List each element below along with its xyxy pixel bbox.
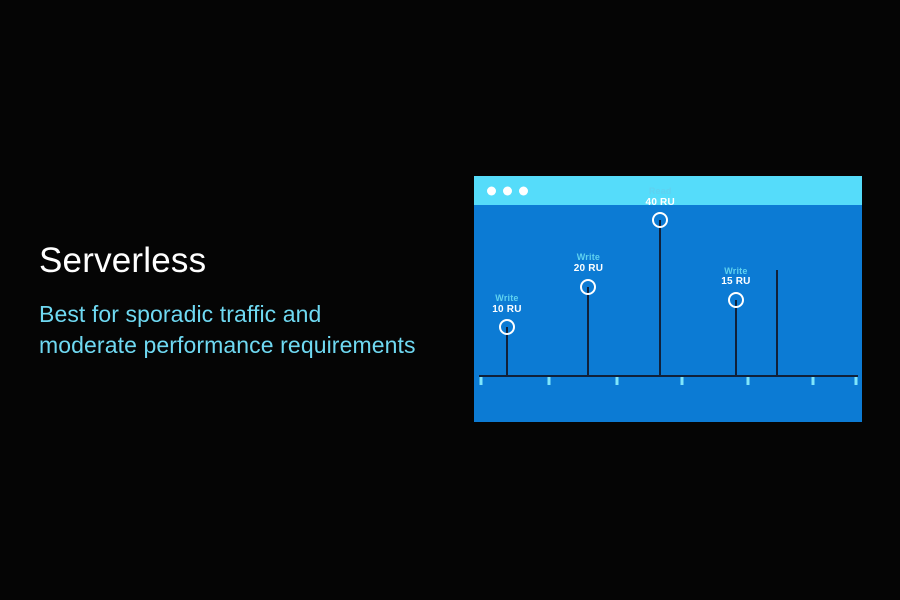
chart-body: Write10 RUWrite20 RURead40 RUWrite15 RU bbox=[474, 205, 862, 422]
spike-label-kind: Write bbox=[721, 266, 750, 277]
spike-label-kind: Write bbox=[492, 293, 521, 304]
spike-chart: Write10 RUWrite20 RURead40 RUWrite15 RU bbox=[474, 205, 862, 422]
spike-marker-icon[interactable] bbox=[499, 319, 515, 335]
spike-stem bbox=[735, 300, 737, 375]
spike-marker-icon[interactable] bbox=[652, 212, 668, 228]
axis-tick-5 bbox=[747, 377, 750, 385]
window-dot-maximize-icon[interactable] bbox=[519, 186, 528, 195]
axis-tick-1 bbox=[479, 377, 482, 385]
spike-label-kind: Read bbox=[646, 186, 675, 197]
spike-label-value: 10 RU bbox=[492, 304, 521, 316]
browser-window: Write10 RUWrite20 RURead40 RUWrite15 RU bbox=[474, 176, 862, 422]
axis-tick-4 bbox=[680, 377, 683, 385]
spike-label: Write15 RU bbox=[721, 266, 750, 288]
spike-label: Read40 RU bbox=[646, 186, 675, 208]
window-controls bbox=[487, 186, 528, 195]
spike-label: Write10 RU bbox=[492, 293, 521, 315]
spike-label-value: 20 RU bbox=[574, 263, 603, 275]
spike-label-value: 40 RU bbox=[646, 197, 675, 209]
spike-label-value: 15 RU bbox=[721, 276, 750, 288]
spike-marker-icon[interactable] bbox=[728, 292, 744, 308]
subtitle: Best for sporadic traffic and moderate p… bbox=[39, 299, 459, 362]
chart-axis-ticks bbox=[479, 377, 858, 385]
spike-stem bbox=[659, 220, 661, 375]
axis-tick-6 bbox=[811, 377, 814, 385]
text-block: Serverless Best for sporadic traffic and… bbox=[39, 243, 459, 362]
spike-label: Write20 RU bbox=[574, 252, 603, 274]
page-title: Serverless bbox=[39, 243, 459, 280]
spike-stem bbox=[587, 287, 589, 375]
window-dot-close-icon[interactable] bbox=[487, 186, 496, 195]
subtitle-line-1: Best for sporadic traffic and bbox=[39, 299, 459, 331]
axis-tick-3 bbox=[616, 377, 619, 385]
subtitle-line-2: moderate performance requirements bbox=[39, 330, 459, 362]
spike-stem bbox=[776, 270, 778, 375]
axis-tick-2 bbox=[548, 377, 551, 385]
spike-label-kind: Write bbox=[574, 252, 603, 263]
axis-tick-7 bbox=[855, 377, 858, 385]
spike-marker-icon[interactable] bbox=[580, 279, 596, 295]
slide-canvas: Serverless Best for sporadic traffic and… bbox=[0, 0, 900, 600]
window-dot-minimize-icon[interactable] bbox=[503, 186, 512, 195]
